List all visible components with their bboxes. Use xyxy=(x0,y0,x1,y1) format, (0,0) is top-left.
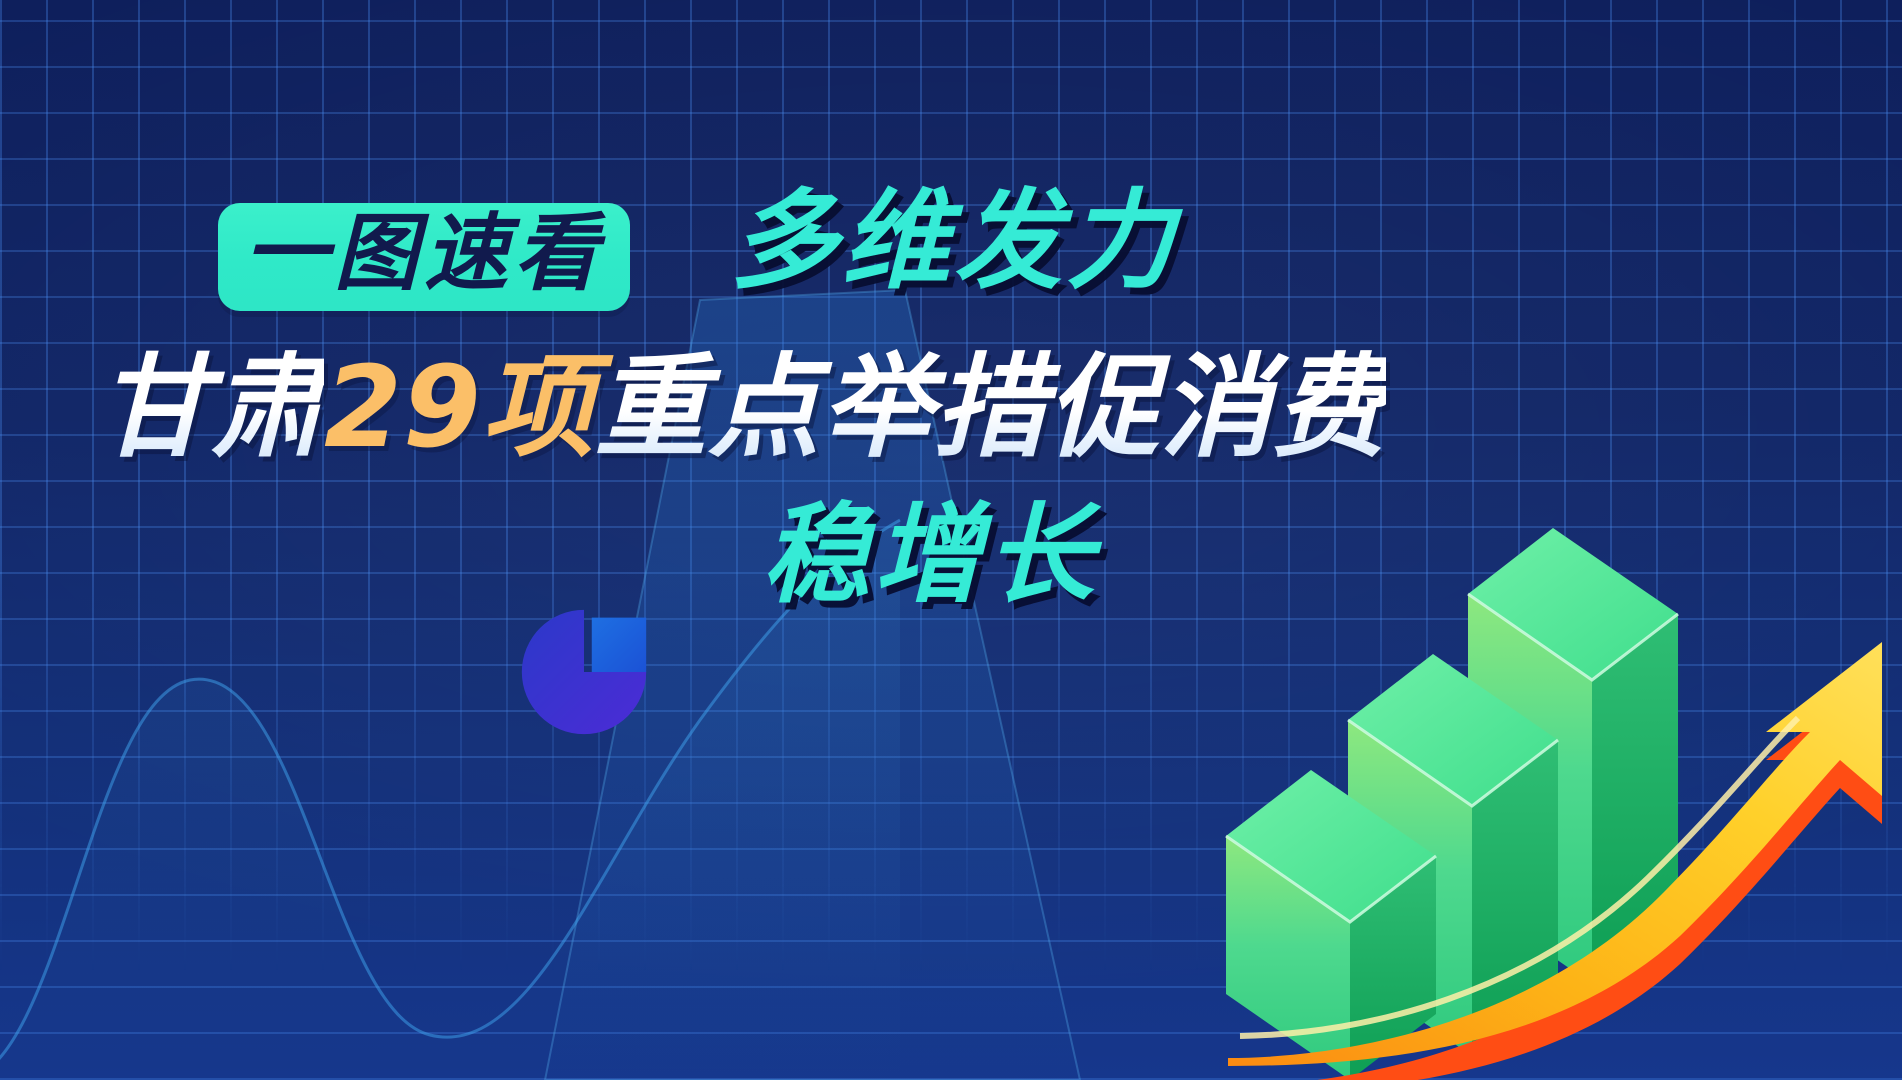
badge-yitusukan: 一图速看 xyxy=(218,203,630,311)
poster-canvas: 一图速看 多维发力 甘肃29项重点举措促消费 稳增长 xyxy=(0,0,1902,1080)
headline-line2: 甘肃29项重点举措促消费 xyxy=(98,352,1386,464)
trend-arrow-up-icon xyxy=(1210,560,1902,1080)
pie-chart-icon xyxy=(516,604,652,740)
headline-line2-part-1: 甘肃 xyxy=(98,343,324,473)
headline-line2-part-2: 29项 xyxy=(324,343,595,473)
headline-line3: 稳增长 xyxy=(762,502,1098,610)
headline-line1: 多维发力 xyxy=(730,188,1178,296)
